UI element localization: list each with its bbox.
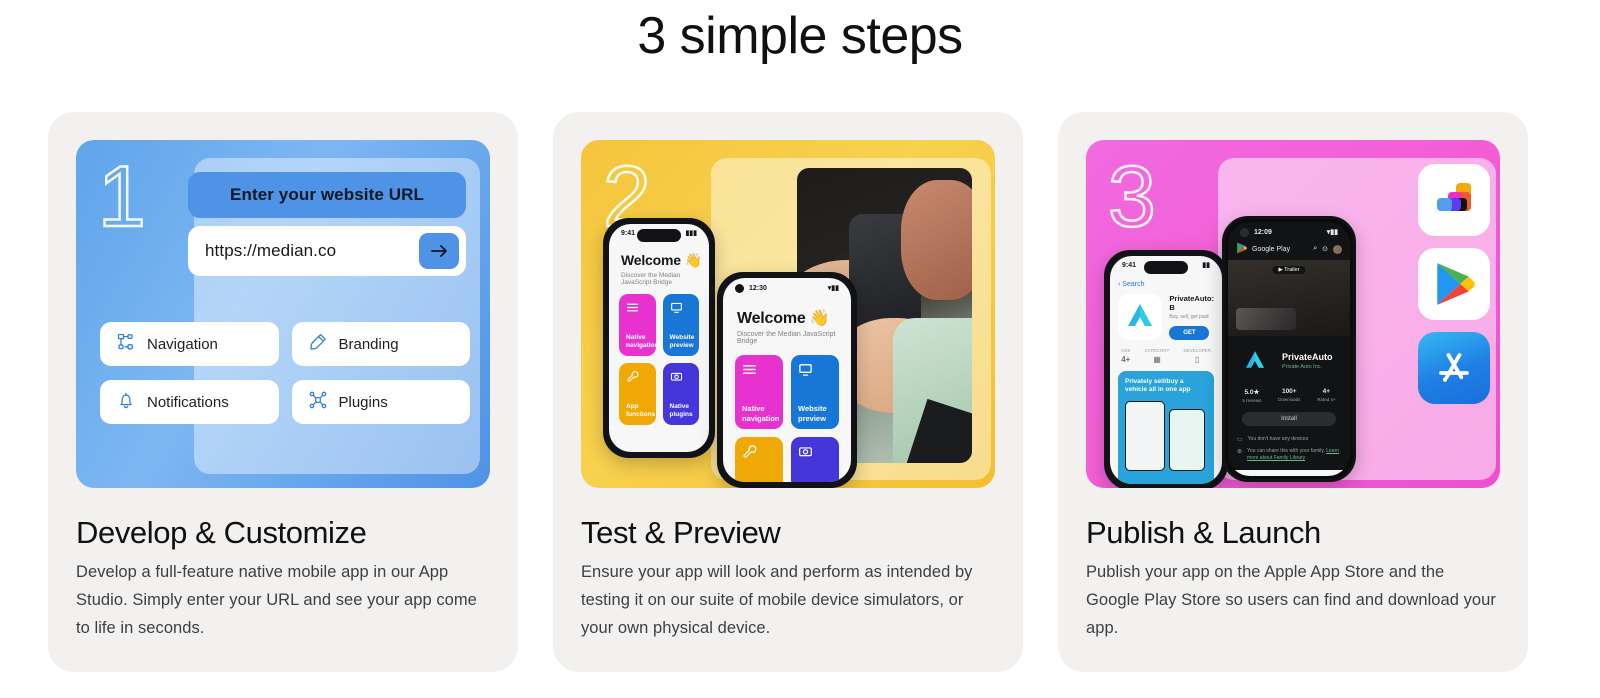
status-time: 9:41 (621, 230, 635, 237)
android-phone-preview: 12:30 ▾▮▮ Welcome 👋 Discover the Median … (717, 272, 857, 488)
tile-native-navigation[interactable]: Native navigation (735, 355, 783, 429)
app-meta-row: PrivateAuto Private Auto Inc. (1228, 336, 1350, 378)
chip-notifications[interactable]: Notifications (100, 380, 279, 424)
app-name: PrivateAuto (1282, 352, 1333, 362)
family-icon: ⊛ (1237, 448, 1242, 455)
android-status-bar: 12:09 ▾▮▮ (1228, 222, 1350, 238)
google-play-toolbar: Google Play ⌕ ⊙ (1228, 238, 1350, 260)
step-card-3: 3 9:41 ▮▮ ‹ Search (1058, 112, 1528, 672)
device-icon: ▭ (1237, 436, 1243, 443)
store-icon-stack (1418, 164, 1490, 404)
stat-label: Downloads (1278, 397, 1300, 402)
chip-branding[interactable]: Branding (292, 322, 471, 366)
library-note: You don't have any devices (1248, 436, 1309, 443)
app-stats-row: AGE 4+ CATEGORY ▦ DEVELOPER ▯ (1110, 340, 1222, 364)
chip-label: Branding (339, 336, 399, 353)
step-number-1: 1 (98, 154, 146, 240)
android-phone-screen: 12:30 ▾▮▮ Welcome 👋 Discover the Median … (723, 278, 851, 482)
app-trailer-hero[interactable]: ▶ Trailer (1228, 260, 1350, 336)
back-to-search-link[interactable]: ‹ Search (1110, 272, 1222, 288)
tile-label: App functions (626, 403, 656, 419)
app-developer: Private Auto Inc. (1282, 364, 1333, 370)
step-1-body: Develop a full-feature native mobile app… (76, 558, 486, 642)
tile-native-plugins[interactable]: Native plugins (791, 437, 839, 482)
google-play-phone: 12:09 ▾▮▮ Google Play ⌕ ⊙ (1222, 216, 1356, 482)
status-time: 12:30 (749, 285, 767, 292)
google-play-icon (1236, 242, 1247, 256)
status-indicators: ▾▮▮ (828, 284, 839, 292)
menu-icon (626, 301, 639, 318)
tile-label: Native navigation (742, 404, 783, 423)
chip-label: Notifications (147, 394, 229, 411)
wrench-icon (626, 370, 639, 387)
arrow-right-icon[interactable] (419, 233, 459, 269)
url-label: Enter your website URL (188, 172, 466, 218)
step-3-body: Publish your app on the Apple App Store … (1086, 558, 1496, 642)
ios-phone-screen: 9:41 ▮▮▮ Welcome 👋 Discover the Median J… (609, 224, 709, 452)
step-card-2: 2 9:41 ▮▮▮ (553, 112, 1023, 672)
camera-icon (670, 370, 683, 387)
status-time: 9:41 (1122, 262, 1136, 269)
tile-native-plugins[interactable]: Native plugins (663, 363, 700, 425)
android-tile-grid: Native navigation Website preview (723, 345, 851, 482)
status-indicators: ▾▮▮ (1327, 228, 1338, 236)
search-icon[interactable]: ⌕ (1313, 245, 1317, 253)
tile-label: Native navigation (626, 334, 659, 350)
play-stats-row: 5.0★ 5 reviews 100+ Downloads 4+ Rated 4… (1228, 378, 1350, 403)
google-play-icon[interactable] (1418, 248, 1490, 320)
tile-label: Website preview (798, 404, 839, 423)
ios-greeting: Welcome 👋 (609, 240, 709, 269)
google-play-screen: 12:09 ▾▮▮ Google Play ⌕ ⊙ (1228, 222, 1350, 476)
app-screenshot-promo: Privately sell/buy a vehicle all in one … (1118, 371, 1214, 484)
ios-phone-preview: 9:41 ▮▮▮ Welcome 👋 Discover the Median J… (603, 218, 715, 458)
tile-label: Native plugins (670, 403, 700, 419)
stat-value: 4+ (1121, 355, 1131, 364)
wrench-icon (742, 446, 757, 463)
tile-website-preview[interactable]: Website preview (791, 355, 839, 429)
tile-label: Website preview (670, 334, 700, 350)
chip-label: Navigation (147, 336, 218, 353)
step-number-3: 3 (1108, 154, 1156, 240)
help-icon[interactable]: ⊙ (1322, 245, 1328, 253)
steps-card-grid: 1 Enter your website URL https://median.… (48, 112, 1552, 674)
stat-label: AGE (1121, 348, 1131, 353)
app-store-screen: 9:41 ▮▮ ‹ Search (1110, 256, 1222, 484)
step-2-title: Test & Preview (581, 514, 995, 552)
ios-subtitle: Discover the Median JavaScript Bridge (609, 269, 709, 286)
bell-icon (116, 390, 136, 414)
ios-notch (637, 229, 681, 242)
status-indicators: ▮▮▮ (685, 229, 697, 237)
step-1-title: Develop & Customize (76, 514, 490, 552)
step-2-visual: 2 9:41 ▮▮▮ (581, 140, 995, 488)
stat-value: ▦ (1145, 355, 1170, 364)
url-input[interactable]: https://median.co (205, 241, 419, 261)
install-button[interactable]: Install (1242, 412, 1336, 426)
tile-native-navigation[interactable]: Native navigation (619, 294, 656, 356)
status-indicators: ▮▮ (1202, 261, 1210, 269)
store-name: Google Play (1252, 246, 1308, 253)
plugins-node-icon (308, 390, 328, 414)
stat-label: 5 reviews (1242, 398, 1261, 403)
privateauto-app-icon (1238, 344, 1272, 378)
monitor-icon (670, 301, 683, 318)
stat-label: Rated 4+ (1317, 397, 1335, 402)
stat-label: DEVELOPER (1183, 348, 1211, 353)
step-3-visual: 3 9:41 ▮▮ ‹ Search (1086, 140, 1500, 488)
stat-label: CATEGORY (1145, 348, 1170, 353)
sitemap-icon (116, 332, 136, 356)
app-name: PrivateAuto: B (1169, 294, 1214, 312)
tile-app-functions[interactable]: App functions (735, 437, 783, 482)
app-subtitle: Buy, sell, get paid (1169, 314, 1214, 320)
median-logo-icon[interactable] (1418, 164, 1490, 236)
ios-notch (1144, 261, 1188, 274)
trailer-badge[interactable]: ▶ Trailer (1272, 266, 1305, 274)
stat-value: 4+ (1317, 388, 1335, 395)
status-time: 12:09 (1254, 229, 1272, 236)
paintbrush-icon (308, 332, 328, 356)
step-3-title: Publish & Launch (1086, 514, 1500, 552)
android-status-bar: 12:30 ▾▮▮ (723, 278, 851, 294)
app-store-phone: 9:41 ▮▮ ‹ Search (1104, 250, 1228, 488)
url-input-row[interactable]: https://median.co (188, 226, 466, 276)
monitor-icon (798, 364, 813, 381)
android-greeting: Welcome 👋 (723, 294, 851, 328)
android-punch-hole (1240, 228, 1249, 237)
chip-navigation[interactable]: Navigation (100, 322, 279, 366)
steps-section: 3 simple steps 1 Enter your website URL … (0, 0, 1600, 698)
step-card-1: 1 Enter your website URL https://median.… (48, 112, 518, 672)
avatar[interactable] (1333, 245, 1342, 254)
privateauto-app-icon (1118, 294, 1162, 340)
stat-value: 5.0★ (1242, 388, 1261, 396)
promo-text: Privately sell/buy a vehicle all in one … (1125, 378, 1207, 395)
family-note: You can share this with your family. (1247, 448, 1325, 454)
android-punch-hole (735, 284, 744, 293)
android-subtitle: Discover the Median JavaScript Bridge (723, 328, 851, 345)
get-button[interactable]: GET (1169, 326, 1209, 340)
menu-icon (742, 364, 757, 381)
chip-label: Plugins (339, 394, 388, 411)
step-1-visual: 1 Enter your website URL https://median.… (76, 140, 490, 488)
camera-icon (798, 446, 813, 463)
feature-chip-list: Navigation Branding (100, 322, 470, 424)
apple-app-store-icon[interactable] (1418, 332, 1490, 404)
page-title: 3 simple steps (0, 4, 1600, 68)
ios-tile-grid: Native navigation Website preview (609, 286, 709, 425)
stat-value: 100+ (1278, 388, 1300, 395)
stat-value: ▯ (1183, 355, 1211, 364)
tile-app-functions[interactable]: App functions (619, 363, 656, 425)
tile-website-preview[interactable]: Website preview (663, 294, 700, 356)
chip-plugins[interactable]: Plugins (292, 380, 471, 424)
step-2-body: Ensure your app will look and perform as… (581, 558, 991, 642)
